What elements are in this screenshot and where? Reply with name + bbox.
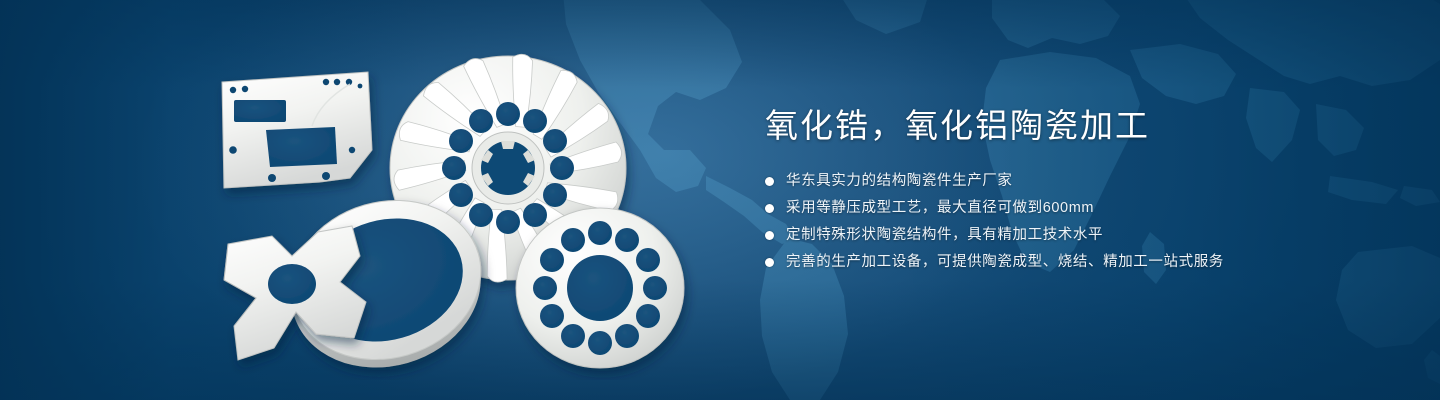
page-title: 氧化锆，氧化铝陶瓷加工 xyxy=(765,106,1405,146)
list-item: 完善的生产加工设备，可提供陶瓷成型、烧结、精加工一站式服务 xyxy=(765,251,1405,273)
feature-text: 完善的生产加工设备，可提供陶瓷成型、烧结、精加工一站式服务 xyxy=(786,251,1224,273)
feature-list: 华东具实力的结构陶瓷件生产厂家 采用等静压成型工艺，最大直径可做到600mm 定… xyxy=(765,170,1405,273)
list-item: 华东具实力的结构陶瓷件生产厂家 xyxy=(765,170,1405,192)
bullet-dot-icon xyxy=(765,258,774,267)
feature-text: 采用等静压成型工艺，最大直径可做到600mm xyxy=(786,197,1094,219)
banner-copy: 氧化锆，氧化铝陶瓷加工 华东具实力的结构陶瓷件生产厂家 采用等静压成型工艺，最大… xyxy=(765,106,1405,278)
ceramic-machined-plate xyxy=(222,72,372,188)
promo-banner: 氧化锆，氧化铝陶瓷加工 华东具实力的结构陶瓷件生产厂家 采用等静压成型工艺，最大… xyxy=(0,0,1440,400)
ceramic-products-photo xyxy=(200,30,760,380)
bullet-dot-icon xyxy=(765,204,774,213)
ceramic-perforated-disc xyxy=(516,208,684,368)
list-item: 采用等静压成型工艺，最大直径可做到600mm xyxy=(765,197,1405,219)
feature-text: 华东具实力的结构陶瓷件生产厂家 xyxy=(786,170,1013,192)
bullet-dot-icon xyxy=(765,177,774,186)
bullet-dot-icon xyxy=(765,231,774,240)
feature-text: 定制特殊形状陶瓷结构件，具有精加工技术水平 xyxy=(786,224,1103,246)
list-item: 定制特殊形状陶瓷结构件，具有精加工技术水平 xyxy=(765,224,1405,246)
